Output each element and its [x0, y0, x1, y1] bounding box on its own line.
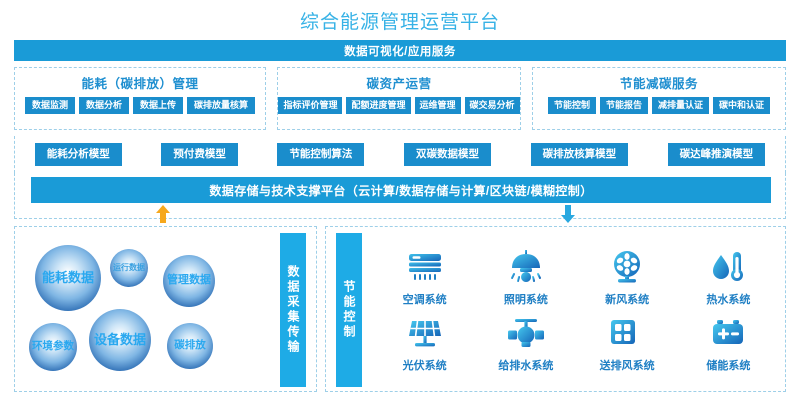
system-icon-row-2: 光伏系统 — [374, 313, 779, 373]
system-air-conditioner[interactable]: 空调系统 — [377, 247, 473, 307]
solar-panel-icon — [406, 313, 444, 353]
bubble-environment-params[interactable]: 环境参数 — [29, 323, 77, 371]
bubble-runtime-data[interactable]: 运行数据 — [110, 249, 148, 287]
chip-carbon-accounting[interactable]: 碳排放量核算 — [187, 97, 255, 114]
bubble-label: 能耗数据 — [42, 271, 94, 285]
data-source-box: 能耗数据 运行数据 管理数据 环境参数 设备数据 碳排放 数据采集传输 — [14, 226, 317, 392]
lamp-icon — [507, 247, 545, 287]
system-label: 给排水系统 — [498, 357, 553, 373]
system-label: 光伏系统 — [403, 357, 447, 373]
vertical-bar-energy-control: 节能控制 — [336, 233, 362, 387]
fan-icon — [609, 247, 645, 287]
arrow-up-icon — [156, 205, 170, 223]
model-energy-analysis[interactable]: 能耗分析模型 — [35, 143, 122, 166]
system-label: 空调系统 — [403, 291, 447, 307]
bubble-carbon-emission[interactable]: 碳排放 — [167, 323, 213, 369]
model-carbon-accounting[interactable]: 碳排放核算模型 — [531, 143, 629, 166]
system-photovoltaic[interactable]: 光伏系统 — [377, 313, 473, 373]
column-title: 能耗（碳排放）管理 — [81, 73, 198, 92]
water-thermometer-icon — [710, 247, 746, 287]
column-energy-saving-service: 节能减碳服务 节能控制 节能报告 减排量认证 碳中和认证 — [532, 67, 786, 130]
air-conditioner-icon — [406, 247, 444, 287]
platform-bar: 数据存储与技术支撑平台（云计算/数据存储与计算/区块链/模糊控制） — [31, 177, 771, 203]
chip-saving-report[interactable]: 节能报告 — [600, 97, 648, 114]
system-lighting[interactable]: 照明系统 — [478, 247, 574, 307]
ventilation-icon — [609, 313, 645, 353]
chip-quota-progress[interactable]: 配额进度管理 — [346, 97, 410, 114]
system-label: 储能系统 — [706, 357, 750, 373]
system-label: 新风系统 — [605, 291, 649, 307]
chip-carbon-neutral-certification[interactable]: 碳中和认证 — [713, 97, 770, 114]
system-icon-row-1: 空调系统 — [374, 247, 779, 307]
chip-emission-certification[interactable]: 减排量认证 — [652, 97, 709, 114]
bubble-label: 环境参数 — [32, 341, 74, 352]
column-energy-management: 能耗（碳排放）管理 数据监测 数据分析 数据上传 碳排放量核算 — [14, 67, 266, 130]
system-label: 照明系统 — [504, 291, 548, 307]
system-water-supply-drainage[interactable]: 给排水系统 — [478, 313, 574, 373]
system-label: 送排风系统 — [600, 357, 655, 373]
model-prepaid[interactable]: 预付费模型 — [161, 143, 238, 166]
bottom-area: 能耗数据 运行数据 管理数据 环境参数 设备数据 碳排放 数据采集传输 节能控制 — [14, 226, 786, 392]
system-icon-grid: 空调系统 — [374, 233, 779, 387]
model-saving-algorithm[interactable]: 节能控制算法 — [277, 143, 364, 166]
bubble-label: 运行数据 — [113, 264, 145, 272]
chip-data-analysis[interactable]: 数据分析 — [79, 97, 129, 114]
battery-icon — [710, 313, 746, 353]
bubble-label: 碳排放 — [174, 340, 206, 351]
column-title: 节能减碳服务 — [620, 73, 698, 92]
bubble-energy-data[interactable]: 能耗数据 — [35, 245, 101, 311]
service-columns: 能耗（碳排放）管理 数据监测 数据分析 数据上传 碳排放量核算 碳资产运营 指标… — [14, 67, 786, 130]
bubble-device-data[interactable]: 设备数据 — [89, 309, 151, 371]
system-fresh-air[interactable]: 新风系统 — [579, 247, 675, 307]
bubble-cluster: 能耗数据 运行数据 管理数据 环境参数 设备数据 碳排放 — [15, 227, 263, 391]
chip-data-monitor[interactable]: 数据监测 — [25, 97, 75, 114]
system-label: 热水系统 — [706, 291, 750, 307]
page-title: 综合能源管理运营平台 — [0, 7, 800, 34]
chip-group: 指标评价管理 配额进度管理 运维管理 碳交易分析 — [278, 97, 519, 114]
arrow-down-icon — [561, 205, 575, 223]
bubble-management-data[interactable]: 管理数据 — [163, 255, 215, 307]
chip-group: 数据监测 数据分析 数据上传 碳排放量核算 — [25, 97, 255, 114]
model-row: 能耗分析模型 预付费模型 节能控制算法 双碳数据模型 碳排放核算模型 碳达峰推演… — [14, 136, 786, 173]
system-hot-water[interactable]: 热水系统 — [680, 247, 776, 307]
chip-index-evaluation[interactable]: 指标评价管理 — [278, 97, 342, 114]
chip-data-upload[interactable]: 数据上传 — [133, 97, 183, 114]
chip-operation-maintenance[interactable]: 运维管理 — [415, 97, 461, 114]
column-carbon-asset: 碳资产运营 指标评价管理 配额进度管理 运维管理 碳交易分析 — [277, 67, 521, 130]
visualization-service-bar: 数据可视化/应用服务 — [14, 40, 786, 61]
model-dual-carbon-data[interactable]: 双碳数据模型 — [404, 143, 491, 166]
bubble-label: 管理数据 — [167, 275, 211, 287]
vertical-bar-data-collection: 数据采集传输 — [280, 233, 306, 387]
column-title: 碳资产运营 — [366, 73, 431, 92]
energy-control-box: 节能控制 — [325, 226, 786, 392]
valve-icon — [507, 313, 545, 353]
chip-group: 节能控制 节能报告 减排量认证 碳中和认证 — [548, 97, 770, 114]
chip-carbon-trading[interactable]: 碳交易分析 — [465, 97, 520, 114]
system-ventilation[interactable]: 送排风系统 — [579, 313, 675, 373]
diagram-root: 综合能源管理运营平台 数据可视化/应用服务 能耗（碳排放）管理 数据监测 数据分… — [0, 0, 800, 402]
bubble-label: 设备数据 — [94, 333, 146, 347]
system-energy-storage[interactable]: 储能系统 — [680, 313, 776, 373]
platform-row: 数据存储与技术支撑平台（云计算/数据存储与计算/区块链/模糊控制） — [14, 173, 786, 219]
model-carbon-peak[interactable]: 碳达峰推演模型 — [668, 143, 766, 166]
chip-saving-control[interactable]: 节能控制 — [548, 97, 596, 114]
